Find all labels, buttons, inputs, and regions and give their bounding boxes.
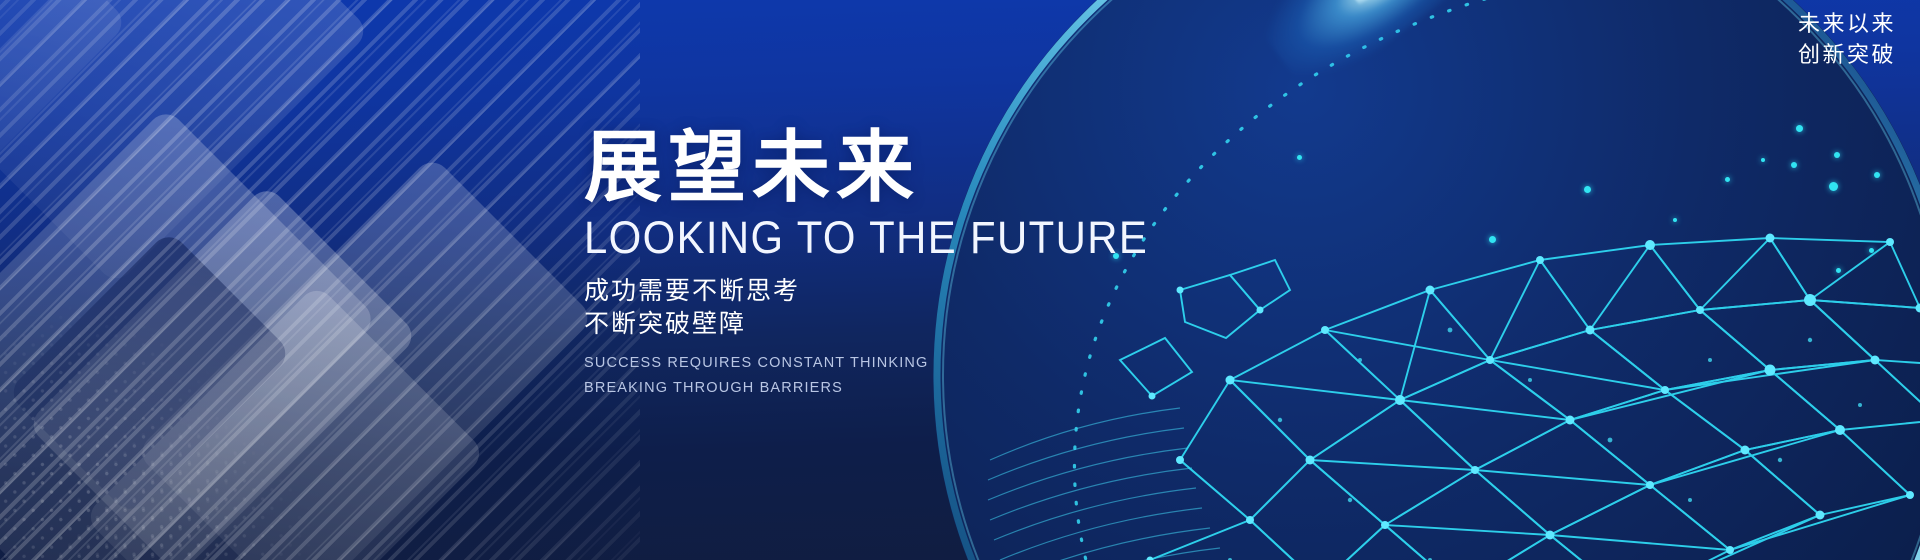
page-title: 展望未来 [584, 128, 1224, 206]
headline-block: 展望未来 LOOKING TO THE FUTURE 成功需要不断思考 不断突破… [584, 128, 1224, 401]
subheading-english-line-2: BREAKING THROUGH BARRIERS [584, 376, 1224, 401]
geometric-slabs [0, 0, 640, 560]
subheading-chinese-line-2: 不断突破壁障 [584, 308, 1224, 341]
subheading-english: SUCCESS REQUIRES CONSTANT THINKING BREAK… [584, 351, 1224, 401]
corner-tagline: 未来以来 创新突破 [1798, 8, 1896, 70]
corner-tagline-line-2: 创新突破 [1798, 39, 1896, 70]
subheading-chinese-line-1: 成功需要不断思考 [584, 275, 1224, 308]
subheading-chinese: 成功需要不断思考 不断突破壁障 [584, 275, 1224, 341]
promo-banner: 展望未来 LOOKING TO THE FUTURE 成功需要不断思考 不断突破… [0, 0, 1920, 560]
subheading-english-line-1: SUCCESS REQUIRES CONSTANT THINKING [584, 351, 1224, 376]
page-subtitle-english: LOOKING TO THE FUTURE [584, 214, 1179, 261]
corner-tagline-line-1: 未来以来 [1798, 8, 1896, 39]
